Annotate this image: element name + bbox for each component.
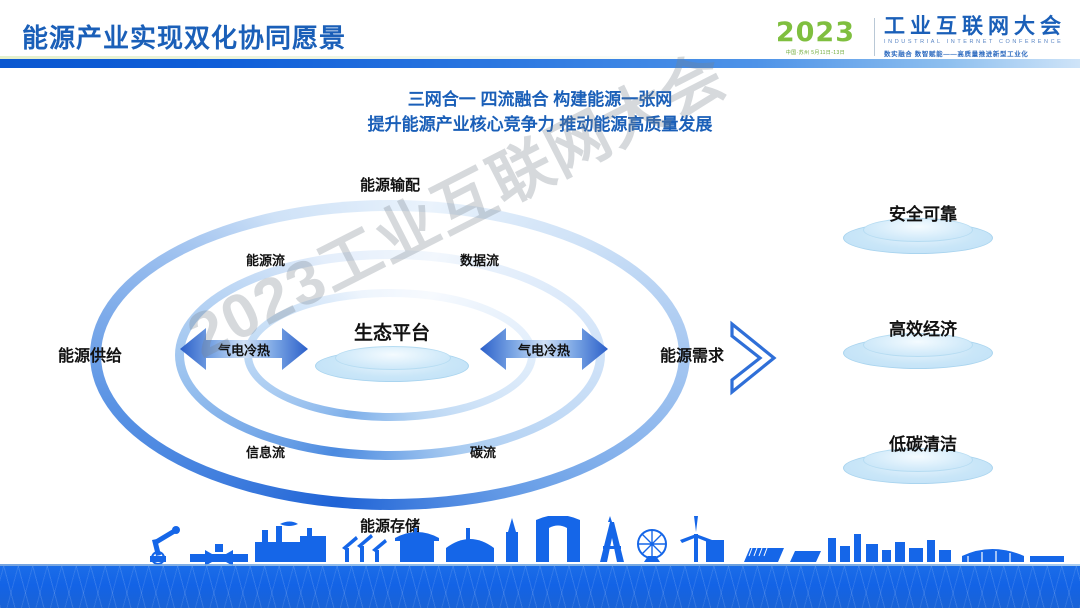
platform-disc-inner: [335, 346, 451, 370]
platform-label: 生态平台: [307, 318, 477, 345]
slide-slogan: 三网合一 四流融合 构建能源一张网 提升能源产业核心竞争力 推动能源高质量发展: [0, 88, 1080, 137]
logo-year: 2023: [776, 19, 855, 46]
logo-name-block: 工业互联网大会 INDUSTRIAL INTERNET CONFERENCE 数…: [884, 16, 1066, 58]
page-title: 能源产业实现双化协同愿景: [22, 18, 346, 55]
label-energy-transmission: 能源输配: [360, 174, 420, 195]
outcome-item: 低碳清洁: [833, 430, 1013, 500]
double-arrow-right-label: 气电冷热: [480, 326, 608, 372]
ecosystem-platform: 生态平台: [307, 318, 477, 388]
logo-separator: [874, 18, 875, 56]
energy-ecosystem-diagram: 能源输配 能源存储 能源流 数据流 信息流 碳流 能源供给 能源需求: [60, 170, 720, 540]
chevron-right-icon: [722, 318, 782, 398]
logo-date: 中国·苏州 5月11日-13日: [776, 49, 855, 56]
chevron-glyph: [722, 318, 782, 398]
label-energy-supply: 能源供给: [58, 342, 122, 366]
double-arrow-left: 气电冷热: [180, 326, 308, 372]
logo-name-cn: 工业互联网大会: [884, 16, 1066, 38]
outcome-item: 高效经济: [833, 315, 1013, 385]
double-arrow-left-label: 气电冷热: [180, 326, 308, 372]
slogan-line-1: 三网合一 四流融合 构建能源一张网: [0, 88, 1080, 113]
conference-logo: 2023 中国·苏州 5月11日-13日 工业互联网大会 INDUSTRIAL …: [776, 14, 1066, 60]
outcome-label-low-carbon-clean: 低碳清洁: [833, 430, 1013, 455]
footer-grid-band: [0, 566, 1080, 608]
logo-name-en: INDUSTRIAL INTERNET CONFERENCE: [884, 39, 1066, 45]
outcomes-panel: 安全可靠 高效经济 低碳清洁: [815, 200, 1045, 500]
label-energy-flow: 能源流: [246, 250, 285, 269]
outcome-label-safe-reliable: 安全可靠: [833, 200, 1013, 225]
logo-year-block: 2023 中国·苏州 5月11日-13日: [776, 19, 865, 56]
skyline-glyphs: [0, 516, 1080, 566]
footer: [0, 528, 1080, 608]
city-skyline-illustration: [0, 516, 1080, 566]
outcome-item: 安全可靠: [833, 200, 1013, 270]
header-divider-bar: [0, 59, 1080, 68]
label-info-flow: 信息流: [246, 442, 285, 461]
label-energy-demand: 能源需求: [660, 342, 724, 366]
double-arrow-right: 气电冷热: [480, 326, 608, 372]
slogan-line-2: 提升能源产业核心竞争力 推动能源高质量发展: [0, 113, 1080, 138]
label-carbon-flow: 碳流: [470, 442, 496, 461]
label-data-flow: 数据流: [460, 250, 499, 269]
logo-slogan: 数实融合 数智赋能——高质量推进新型工业化: [884, 48, 1066, 58]
outcome-label-efficient-economic: 高效经济: [833, 315, 1013, 340]
slide-canvas: 能源产业实现双化协同愿景 2023 中国·苏州 5月11日-13日 工业互联网大…: [0, 0, 1080, 608]
